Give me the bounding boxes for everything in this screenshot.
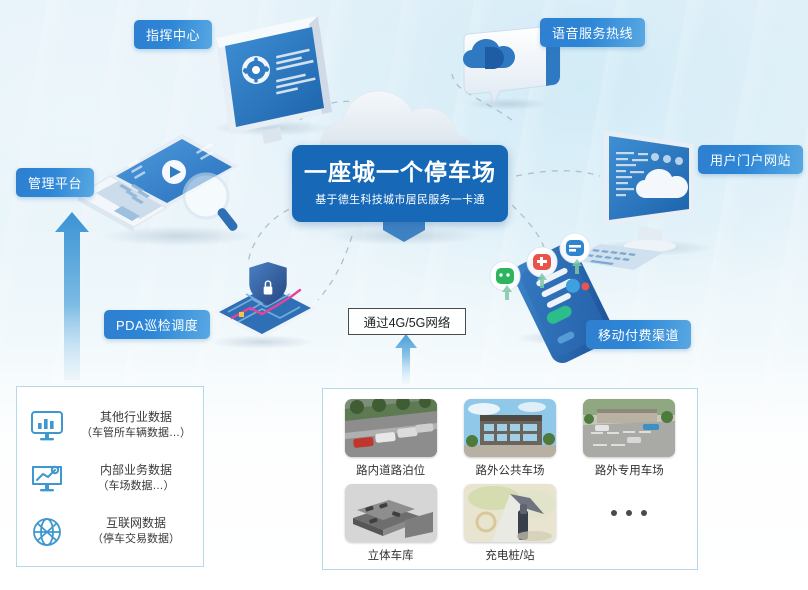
multilevel-garage-photo xyxy=(345,484,437,542)
data-source-text: 其他行业数据 （车管所车辆数据…） xyxy=(75,409,197,442)
app-icon-wechat-pay xyxy=(490,261,520,291)
dedicated-parking-lot-photo xyxy=(583,399,675,457)
label-command-center-text: 指挥中心 xyxy=(146,25,200,44)
data-flow-arrow-center xyxy=(395,334,417,384)
scene-cell-more xyxy=(575,484,683,542)
public-parking-building-photo xyxy=(464,399,556,457)
data-sources-panel: 其他行业数据 （车管所车辆数据…） 内部业务数据 （车场数据…） xyxy=(16,386,204,567)
label-voice-hotline-text: 语音服务热线 xyxy=(552,23,633,42)
ellipsis-dot xyxy=(641,510,647,516)
scene-cell-dedicated-parking[interactable]: 路外专用车场 xyxy=(575,399,683,478)
data-source-subtitle: （车场数据…） xyxy=(98,479,175,495)
street-parking-photo xyxy=(345,399,437,457)
more-scenes-ellipsis xyxy=(575,484,683,542)
scene-cell-ev-charging[interactable]: 充电桩/站 xyxy=(456,484,564,563)
network-label-text: 通过4G/5G网络 xyxy=(364,312,451,331)
scene-label: 充电桩/站 xyxy=(485,547,534,563)
scene-row-2: 立体车库 充电桩/站 xyxy=(331,484,689,563)
label-mobile-payment-text: 移动付费渠道 xyxy=(598,325,679,344)
ev-charging-photo xyxy=(464,484,556,542)
data-source-title: 其他行业数据 xyxy=(100,409,172,426)
app-icon-alipay xyxy=(527,247,557,277)
scene-cell-street-parking[interactable]: 路内道路泊位 xyxy=(337,399,445,478)
data-source-subtitle: （车管所车辆数据…） xyxy=(81,426,191,442)
management-platform-laptop-illustration xyxy=(78,134,254,246)
center-banner: 一座城一个停车场 基于德生科技城市居民服务一卡通 xyxy=(292,145,508,222)
keyboard-illustration xyxy=(572,244,664,270)
ellipsis-dot xyxy=(626,510,632,516)
scene-label: 路外公共车场 xyxy=(475,462,544,478)
data-source-text: 互联网数据 （停车交易数据） xyxy=(75,515,197,548)
scene-label: 路内道路泊位 xyxy=(356,462,425,478)
label-management-platform-text: 管理平台 xyxy=(28,173,82,192)
banner-subtitle: 基于德生科技城市居民服务一卡通 xyxy=(315,191,485,207)
scene-label: 路外专用车场 xyxy=(595,462,664,478)
monitor-line-chart-icon xyxy=(27,460,67,498)
label-mobile-payment[interactable]: 移动付费渠道 xyxy=(586,320,691,349)
scene-label: 立体车库 xyxy=(368,547,414,563)
banner-title: 一座城一个停车场 xyxy=(304,160,496,185)
scene-cell-multilevel-garage[interactable]: 立体车库 xyxy=(337,484,445,563)
label-management-platform[interactable]: 管理平台 xyxy=(16,168,94,197)
magnifier-icon xyxy=(184,174,239,232)
globe-network-icon xyxy=(27,513,67,551)
data-flow-arrow-left xyxy=(55,212,89,380)
label-user-portal[interactable]: 用户门户网站 xyxy=(698,145,803,174)
ellipsis-dot xyxy=(611,510,617,516)
pda-dispatch-illustration xyxy=(210,262,318,349)
label-voice-hotline[interactable]: 语音服务热线 xyxy=(540,18,645,47)
scene-row-1: 路内道路泊位 xyxy=(331,399,689,478)
data-source-title: 内部业务数据 xyxy=(100,462,172,479)
label-pda-dispatch[interactable]: PDA巡检调度 xyxy=(104,310,210,339)
command-center-monitor-illustration xyxy=(210,16,334,144)
user-portal-desktop-illustration xyxy=(572,130,714,270)
label-pda-dispatch-text: PDA巡检调度 xyxy=(116,315,198,334)
label-command-center[interactable]: 指挥中心 xyxy=(134,20,212,49)
monitor-bar-chart-icon xyxy=(27,407,67,445)
scene-cell-public-parking[interactable]: 路外公共车场 xyxy=(456,399,564,478)
data-source-row: 其他行业数据 （车管所车辆数据…） xyxy=(27,407,197,445)
data-source-title: 互联网数据 xyxy=(106,515,166,532)
label-user-portal-text: 用户门户网站 xyxy=(710,150,791,169)
data-source-row: 互联网数据 （停车交易数据） xyxy=(27,513,197,551)
network-label-box: 通过4G/5G网络 xyxy=(348,308,466,335)
data-source-text: 内部业务数据 （车场数据…） xyxy=(75,462,197,495)
app-icon-bank-card xyxy=(560,233,590,263)
data-source-subtitle: （停车交易数据） xyxy=(92,532,180,548)
data-source-row: 内部业务数据 （车场数据…） xyxy=(27,460,197,498)
infographic-canvas: 指挥中心 语音服务热线 管理平台 用户门户网站 PDA巡检调度 移动付费渠道 通… xyxy=(0,0,808,590)
parking-scenes-panel: 路内道路泊位 xyxy=(322,388,698,570)
